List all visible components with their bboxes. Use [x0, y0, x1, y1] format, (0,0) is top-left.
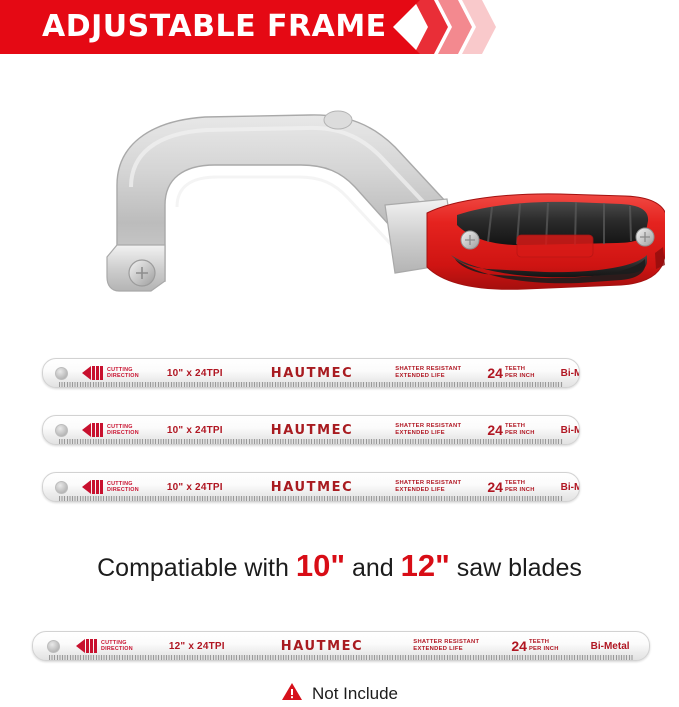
- teeth-line2: PER INCH: [505, 373, 535, 380]
- blade-teeth: [59, 439, 563, 444]
- teeth-line2: PER INCH: [529, 646, 559, 653]
- cutting-direction-line2: DIRECTION: [107, 430, 139, 436]
- blade-teeth-count: 24 TEETH PER INCH: [487, 365, 534, 381]
- blade-mounting-hole: [55, 424, 68, 437]
- blade-shatter-label: SHATTER RESISTANT EXTENDED LIFE: [413, 639, 479, 653]
- blade-brand-logo: HAUTMEC: [271, 366, 354, 381]
- blade-brand-logo: HAUTMEC: [271, 480, 354, 495]
- banner-title: ADJUSTABLE FRAME: [42, 9, 387, 44]
- cutting-direction-icon: CUTTING DIRECTION: [82, 480, 139, 494]
- blade-material: Bi-Metal: [561, 425, 580, 436]
- warning-triangle-icon: [281, 682, 303, 706]
- blade-material: Bi-Metal: [591, 641, 630, 652]
- shatter-line1: SHATTER RESISTANT: [395, 366, 461, 373]
- header-banner: ADJUSTABLE FRAME: [0, 0, 679, 54]
- not-include-label: Not Include: [312, 684, 398, 704]
- compatibility-text: Compatiable with 10" and 12" saw blades: [0, 548, 679, 584]
- teeth-number: 24: [487, 479, 503, 495]
- compat-suffix: saw blades: [450, 554, 582, 582]
- compat-size-10: 10": [296, 548, 345, 583]
- cutting-direction-icon: CUTTING DIRECTION: [82, 423, 139, 437]
- saw-blade: CUTTING DIRECTION 10" x 24TPI HAUTMEC SH…: [42, 415, 580, 445]
- compat-size-12: 12": [401, 548, 450, 583]
- blade-mounting-hole: [55, 481, 68, 494]
- teeth-line1: TEETH: [505, 366, 535, 373]
- shatter-line2: EXTENDED LIFE: [395, 487, 461, 494]
- blade-mounting-hole: [47, 640, 60, 653]
- cutting-direction-line2: DIRECTION: [107, 373, 139, 379]
- blade-brand-logo: HAUTMEC: [271, 423, 354, 438]
- teeth-number: 24: [487, 365, 503, 381]
- blade-shatter-label: SHATTER RESISTANT EXTENDED LIFE: [395, 480, 461, 494]
- saw-blade: CUTTING DIRECTION 12" x 24TPI HAUTMEC SH…: [32, 631, 650, 661]
- teeth-number: 24: [511, 638, 527, 654]
- shatter-line1: SHATTER RESISTANT: [395, 480, 461, 487]
- blade-teeth-count: 24 TEETH PER INCH: [511, 638, 558, 654]
- shatter-line1: SHATTER RESISTANT: [413, 639, 479, 646]
- blade-brand-logo: HAUTMEC: [281, 639, 364, 654]
- shatter-line2: EXTENDED LIFE: [395, 373, 461, 380]
- teeth-line1: TEETH: [505, 423, 535, 430]
- saw-blade: CUTTING DIRECTION 10" x 24TPI HAUTMEC SH…: [42, 472, 580, 502]
- shatter-line2: EXTENDED LIFE: [413, 646, 479, 653]
- blade-material: Bi-Metal: [561, 482, 580, 493]
- blade-spec: 12" x 24TPI: [169, 641, 225, 652]
- shatter-line2: EXTENDED LIFE: [395, 430, 461, 437]
- shatter-line1: SHATTER RESISTANT: [395, 423, 461, 430]
- blade-spec: 10" x 24TPI: [167, 425, 223, 436]
- cutting-direction-line2: DIRECTION: [101, 646, 133, 652]
- blade-shatter-label: SHATTER RESISTANT EXTENDED LIFE: [395, 423, 461, 437]
- teeth-line1: TEETH: [529, 639, 559, 646]
- blade-mounting-hole: [55, 367, 68, 380]
- teeth-line2: PER INCH: [505, 430, 535, 437]
- blade-material: Bi-Metal: [561, 368, 580, 379]
- blade-spec: 10" x 24TPI: [167, 368, 223, 379]
- cutting-direction-icon: CUTTING DIRECTION: [76, 639, 133, 653]
- blade-teeth: [59, 382, 563, 387]
- not-include-note: Not Include: [0, 682, 679, 706]
- teeth-line2: PER INCH: [505, 487, 535, 494]
- teeth-number: 24: [487, 422, 503, 438]
- saw-blade: CUTTING DIRECTION 10" x 24TPI HAUTMEC SH…: [42, 358, 580, 388]
- hacksaw-product-image: [55, 95, 665, 310]
- cutting-direction-line2: DIRECTION: [107, 487, 139, 493]
- blade-teeth-count: 24 TEETH PER INCH: [487, 479, 534, 495]
- teeth-line1: TEETH: [505, 480, 535, 487]
- compat-prefix: Compatiable with: [97, 554, 296, 582]
- blade-teeth: [59, 496, 563, 501]
- blade-spec: 10" x 24TPI: [167, 482, 223, 493]
- compat-middle: and: [345, 554, 401, 582]
- blade-teeth: [49, 655, 633, 660]
- blade-shatter-label: SHATTER RESISTANT EXTENDED LIFE: [395, 366, 461, 380]
- cutting-direction-icon: CUTTING DIRECTION: [82, 366, 139, 380]
- blade-teeth-count: 24 TEETH PER INCH: [487, 422, 534, 438]
